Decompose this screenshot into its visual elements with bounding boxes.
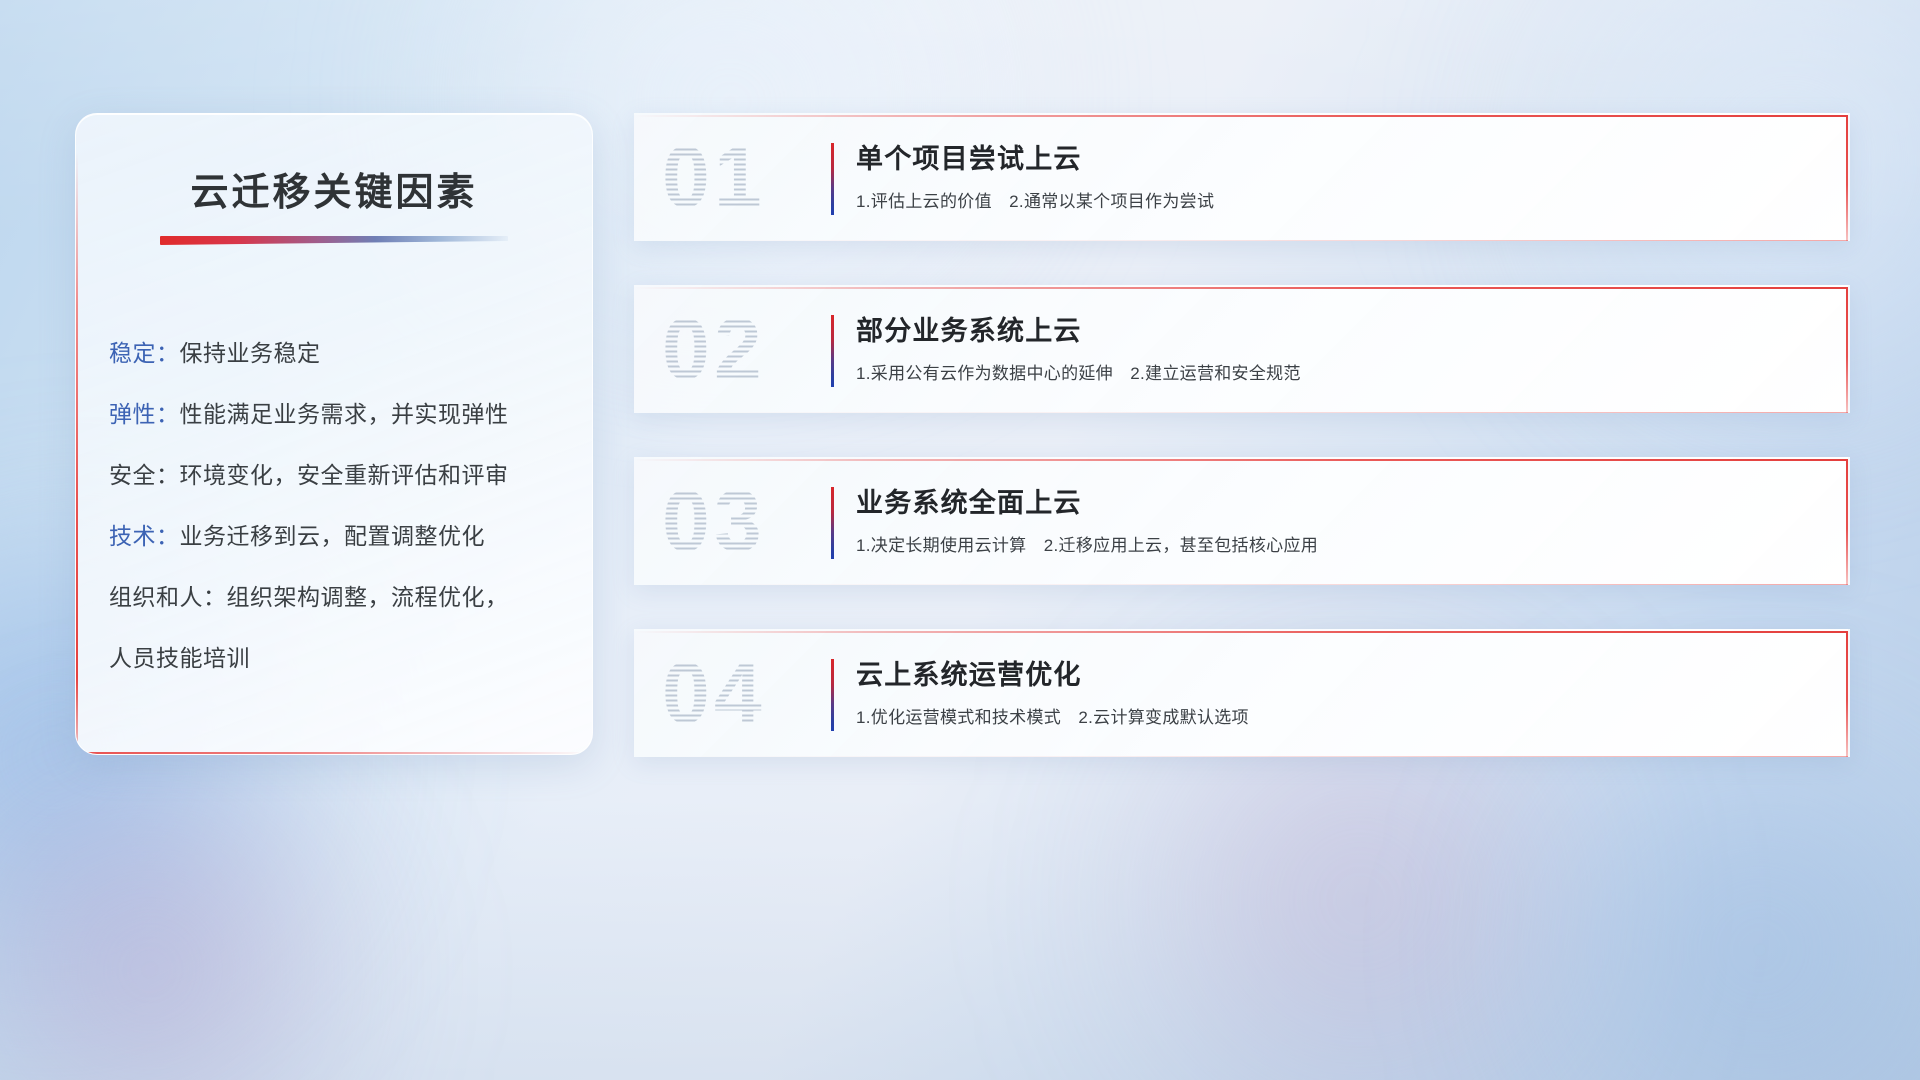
- card-divider: [831, 143, 834, 215]
- key-factor-line: 技术：业务迁移到云，配置调整优化: [109, 506, 592, 567]
- key-factor-text: 组织架构调整，流程优化，: [227, 584, 509, 610]
- key-factor-text: 人员技能培训: [109, 645, 250, 671]
- key-factor-text: 业务迁移到云，配置调整优化: [180, 523, 486, 549]
- key-factor-line: 人员技能培训: [109, 628, 592, 689]
- card-bottom-accent: [634, 756, 1848, 757]
- key-factor-label: 安全：: [109, 462, 180, 488]
- card-top-accent: [634, 459, 1848, 461]
- key-factor-label: 技术：: [109, 523, 180, 549]
- stage-card[interactable]: 02部分业务系统上云1.采用公有云作为数据中心的延伸 2.建立运营和安全规范: [634, 285, 1850, 413]
- key-factor-line: 组织和人：组织架构调整，流程优化，: [109, 567, 592, 628]
- key-factor-line: 稳定：保持业务稳定: [109, 323, 592, 384]
- card-top-accent: [634, 115, 1848, 117]
- key-factors-list: 稳定：保持业务稳定弹性：性能满足业务需求，并实现弹性安全：环境变化，安全重新评估…: [109, 323, 592, 689]
- panel-bottom-accent: [76, 752, 592, 754]
- key-factor-label: 组织和人：: [109, 584, 227, 610]
- stage-card[interactable]: 03业务系统全面上云1.决定长期使用云计算 2.迁移应用上云，甚至包括核心应用: [634, 457, 1850, 585]
- card-top-accent: [634, 287, 1848, 289]
- stage-number: 04: [662, 645, 766, 744]
- stage-card[interactable]: 01单个项目尝试上云1.评估上云的价值 2.通常以某个项目作为尝试: [634, 113, 1850, 241]
- stage-title: 云上系统运营优化: [856, 655, 1824, 695]
- card-right-accent: [1846, 459, 1848, 585]
- card-right-accent: [1846, 115, 1848, 241]
- key-factor-line: 安全：环境变化，安全重新评估和评审: [109, 445, 592, 506]
- stage-number: 01: [662, 129, 766, 228]
- card-divider: [831, 487, 834, 559]
- card-right-accent: [1846, 287, 1848, 413]
- card-bottom-accent: [634, 240, 1848, 241]
- key-factor-label: 稳定：: [109, 340, 180, 366]
- card-body: 部分业务系统上云1.采用公有云作为数据中心的延伸 2.建立运营和安全规范: [856, 311, 1824, 386]
- stage-description: 1.优化运营模式和技术模式 2.云计算变成默认选项: [856, 706, 1824, 730]
- card-right-accent: [1846, 631, 1848, 757]
- card-bottom-accent: [634, 584, 1848, 585]
- stage-description: 1.评估上云的价值 2.通常以某个项目作为尝试: [856, 190, 1824, 214]
- stage-number: 03: [662, 473, 766, 572]
- card-top-accent: [634, 631, 1848, 633]
- key-factor-text: 性能满足业务需求，并实现弹性: [180, 401, 509, 427]
- stage-description: 1.采用公有云作为数据中心的延伸 2.建立运营和安全规范: [856, 362, 1824, 386]
- key-factors-panel: 云迁移关键因素 稳定：保持业务稳定弹性：性能满足业务需求，并实现弹性安全：环境变…: [75, 113, 593, 755]
- stage-title: 业务系统全面上云: [856, 483, 1824, 523]
- title-underline-gradient: [160, 236, 508, 245]
- stage-title: 部分业务系统上云: [856, 311, 1824, 351]
- key-factor-text: 环境变化，安全重新评估和评审: [180, 462, 509, 488]
- page-title: 云迁移关键因素: [76, 161, 592, 216]
- stage-number: 02: [662, 301, 766, 400]
- card-divider: [831, 315, 834, 387]
- key-factor-line: 弹性：性能满足业务需求，并实现弹性: [109, 384, 592, 445]
- card-bottom-accent: [634, 412, 1848, 413]
- card-body: 业务系统全面上云1.决定长期使用云计算 2.迁移应用上云，甚至包括核心应用: [856, 483, 1824, 558]
- card-body: 单个项目尝试上云1.评估上云的价值 2.通常以某个项目作为尝试: [856, 139, 1824, 214]
- stage-card[interactable]: 04云上系统运营优化1.优化运营模式和技术模式 2.云计算变成默认选项: [634, 629, 1850, 757]
- key-factor-text: 保持业务稳定: [180, 340, 321, 366]
- key-factor-label: 弹性：: [109, 401, 180, 427]
- stage-description: 1.决定长期使用云计算 2.迁移应用上云，甚至包括核心应用: [856, 534, 1824, 558]
- card-body: 云上系统运营优化1.优化运营模式和技术模式 2.云计算变成默认选项: [856, 655, 1824, 730]
- stages-card-list: 01单个项目尝试上云1.评估上云的价值 2.通常以某个项目作为尝试02部分业务系…: [634, 113, 1850, 801]
- stage-title: 单个项目尝试上云: [856, 139, 1824, 179]
- card-divider: [831, 659, 834, 731]
